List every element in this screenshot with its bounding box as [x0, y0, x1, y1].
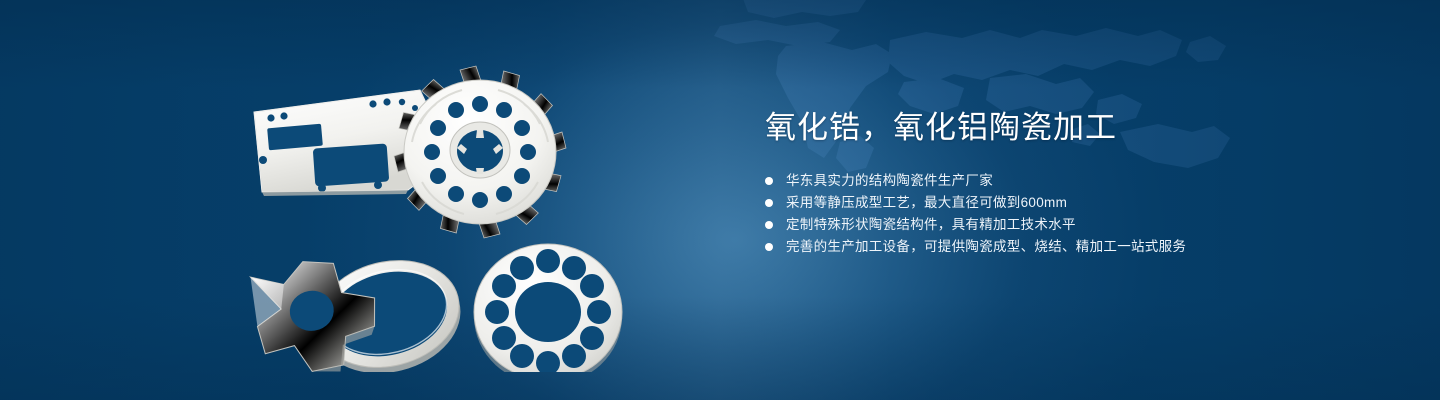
- bullet-dot-icon: [765, 221, 773, 229]
- feature-text: 完善的生产加工设备，可提供陶瓷成型、烧结、精加工一站式服务: [786, 236, 1186, 258]
- list-item: 华东具实力的结构陶瓷件生产厂家: [765, 170, 1385, 192]
- feature-text: 采用等静压成型工艺，最大直径可做到600mm: [786, 192, 1067, 214]
- banner-copy: 氧化锆，氧化铝陶瓷加工 华东具实力的结构陶瓷件生产厂家 采用等静压成型工艺，最大…: [765, 108, 1385, 258]
- list-item: 完善的生产加工设备，可提供陶瓷成型、烧结、精加工一站式服务: [765, 236, 1385, 258]
- list-item: 定制特殊形状陶瓷结构件，具有精加工技术水平: [765, 214, 1385, 236]
- bullet-dot-icon: [765, 243, 773, 251]
- feature-text: 华东具实力的结构陶瓷件生产厂家: [786, 170, 993, 192]
- bullet-dot-icon: [765, 199, 773, 207]
- ceramic-products-image: [232, 42, 712, 372]
- promo-banner: 氧化锆，氧化铝陶瓷加工 华东具实力的结构陶瓷件生产厂家 采用等静压成型工艺，最大…: [0, 0, 1440, 400]
- ceramic-holed-disc: [474, 244, 622, 372]
- feature-list: 华东具实力的结构陶瓷件生产厂家 采用等静压成型工艺，最大直径可做到600mm 定…: [765, 170, 1385, 258]
- list-item: 采用等静压成型工艺，最大直径可做到600mm: [765, 192, 1385, 214]
- page-title: 氧化锆，氧化铝陶瓷加工: [765, 108, 1385, 148]
- feature-text: 定制特殊形状陶瓷结构件，具有精加工技术水平: [786, 214, 1076, 236]
- bullet-dot-icon: [765, 177, 773, 185]
